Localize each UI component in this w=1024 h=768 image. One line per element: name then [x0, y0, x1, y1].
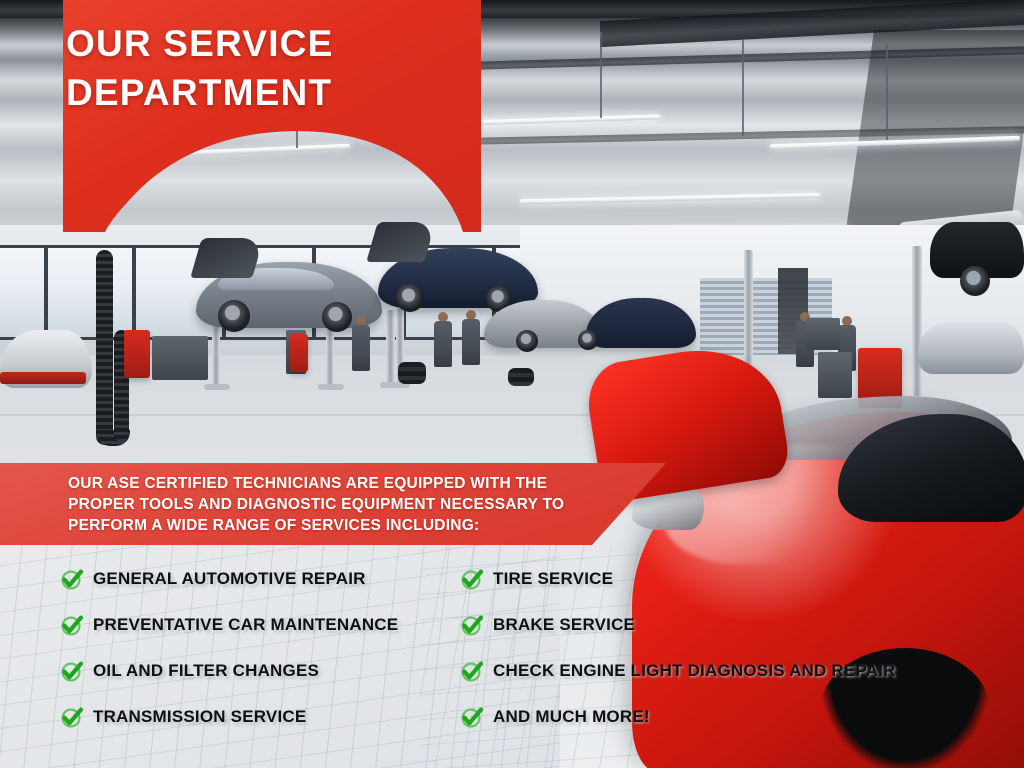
service-item-label: BRAKE SERVICE — [493, 615, 635, 635]
vehicle-lift-post — [212, 326, 220, 386]
vehicle-lift-post — [744, 250, 753, 390]
service-item-label: TIRE SERVICE — [493, 569, 613, 589]
services-checklist: GENERAL AUTOMOTIVE REPAIR PREVENTATIVE C… — [0, 556, 1024, 736]
car-wheel — [322, 302, 352, 332]
car-taillight-strip — [0, 372, 86, 384]
car-wheel — [960, 266, 990, 296]
car-wheel — [218, 300, 250, 332]
check-circle-icon — [60, 705, 84, 729]
service-item[interactable]: GENERAL AUTOMOTIVE REPAIR — [60, 556, 460, 602]
vehicle-lift-post — [912, 246, 922, 396]
intro-text-line2: PROPER TOOLS AND DIAGNOSTIC EQUIPMENT NE… — [68, 494, 608, 515]
exhaust-extraction-hose — [96, 250, 113, 445]
intro-text-line1: OUR ASE CERTIFIED TECHNICIANS ARE EQUIPP… — [68, 473, 608, 494]
vehicle-lift-post — [386, 310, 395, 384]
ceiling-hanger — [886, 44, 888, 140]
page-title-line2: DEPARTMENT — [66, 69, 426, 118]
services-column-left: GENERAL AUTOMOTIVE REPAIR PREVENTATIVE C… — [60, 556, 460, 740]
service-item-label: PREVENTATIVE CAR MAINTENANCE — [93, 615, 398, 635]
ceiling-hanger — [600, 32, 602, 118]
tire-stack — [398, 362, 426, 384]
equipment-box — [806, 318, 840, 350]
vehicle-lift-post — [326, 324, 334, 386]
services-column-right: TIRE SERVICE BRAKE SERVICE — [460, 556, 1020, 740]
check-circle-icon — [460, 613, 484, 637]
service-item[interactable]: TRANSMISSION SERVICE — [60, 694, 460, 740]
service-item-label: OIL AND FILTER CHANGES — [93, 661, 319, 681]
check-circle-icon — [60, 613, 84, 637]
service-item-label: TRANSMISSION SERVICE — [93, 707, 306, 727]
service-item[interactable]: TIRE SERVICE — [460, 556, 1020, 602]
tool-cabinet-red — [858, 348, 902, 408]
tire-stack — [508, 368, 534, 386]
workbench — [152, 336, 208, 380]
service-item[interactable]: OIL AND FILTER CHANGES — [60, 648, 460, 694]
service-department-poster: E3 2Q UA OUR SERVICE DEPAR — [0, 0, 1024, 768]
vehicle-lift-base — [318, 384, 344, 390]
check-circle-icon — [460, 567, 484, 591]
service-item[interactable]: CHECK ENGINE LIGHT DIAGNOSIS AND REPAIR — [460, 648, 1020, 694]
service-item-label: CHECK ENGINE LIGHT DIAGNOSIS AND REPAIR — [493, 661, 896, 681]
car-wheel — [396, 284, 424, 312]
open-hood — [190, 238, 263, 278]
window-mullion — [44, 245, 48, 340]
car-wheel — [578, 330, 598, 350]
check-circle-icon — [460, 659, 484, 683]
service-item-label: GENERAL AUTOMOTIVE REPAIR — [93, 569, 366, 589]
ceiling-hanger — [742, 40, 744, 136]
page-title-line1: OUR SERVICE — [66, 23, 333, 64]
tool-cart — [818, 352, 852, 398]
car-silver-right — [918, 322, 1024, 374]
service-item[interactable]: AND MUCH MORE! — [460, 694, 1020, 740]
check-circle-icon — [60, 567, 84, 591]
car-wheel — [516, 330, 538, 352]
intro-text: OUR ASE CERTIFIED TECHNICIANS ARE EQUIPP… — [68, 473, 608, 536]
page-title: OUR SERVICE DEPARTMENT — [66, 20, 426, 118]
tool-cabinet-red — [290, 334, 308, 372]
service-item[interactable]: BRAKE SERVICE — [460, 602, 1020, 648]
check-circle-icon — [460, 705, 484, 729]
service-item-label: AND MUCH MORE! — [493, 707, 650, 727]
tool-cabinet-red — [124, 330, 150, 378]
vehicle-lift-base — [204, 384, 230, 390]
intro-text-line3: PERFORM A WIDE RANGE OF SERVICES INCLUDI… — [68, 515, 608, 536]
service-item[interactable]: PREVENTATIVE CAR MAINTENANCE — [60, 602, 460, 648]
window-mullion — [132, 245, 136, 340]
check-circle-icon — [60, 659, 84, 683]
floor-line — [0, 414, 1024, 416]
